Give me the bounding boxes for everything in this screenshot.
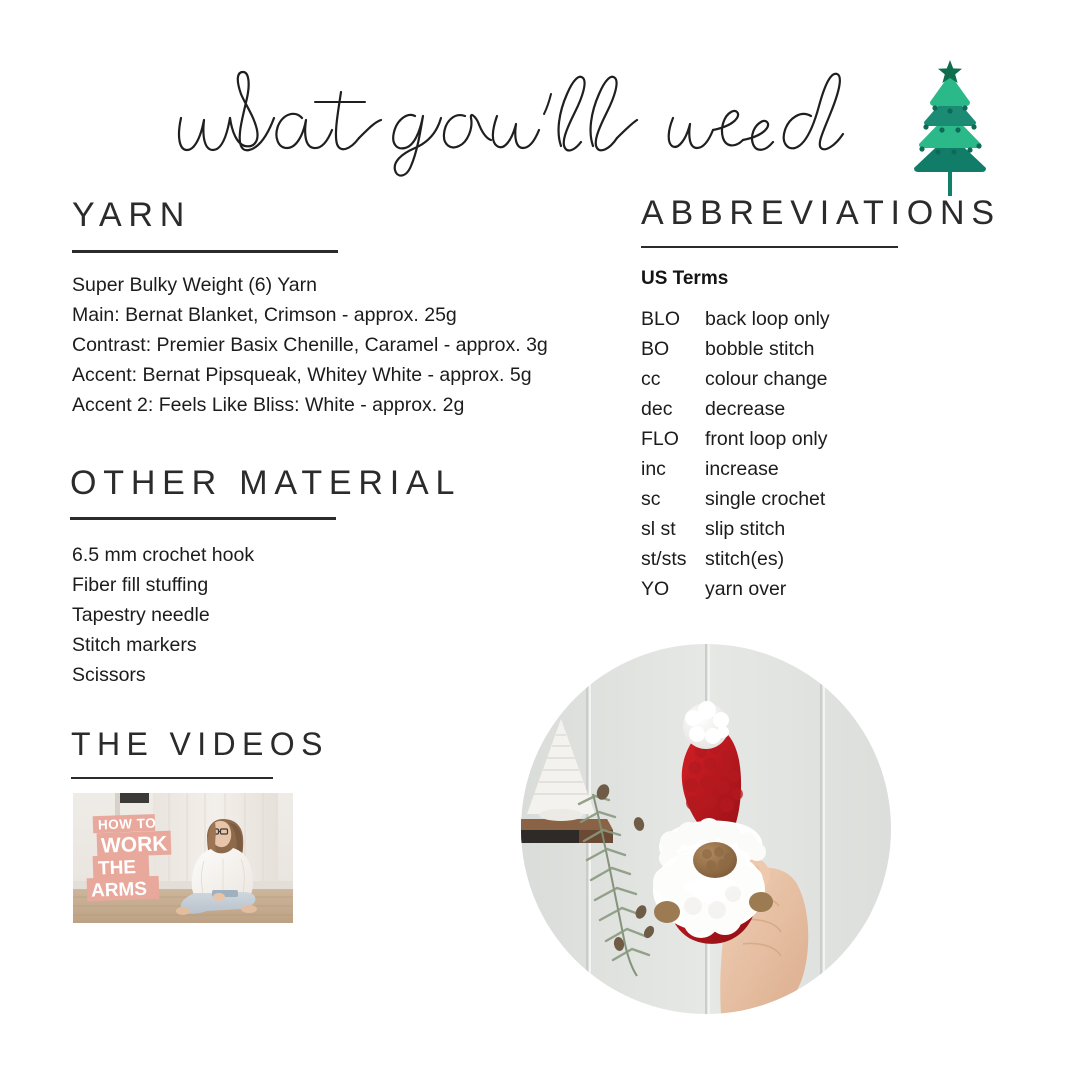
table-row: dec decrease <box>641 399 830 429</box>
list-item: Contrast: Premier Basix Chenille, Carame… <box>72 330 548 360</box>
list-item: Super Bulky Weight (6) Yarn <box>72 270 548 300</box>
other-material-section-divider <box>70 517 336 520</box>
abbreviation-meaning: yarn over <box>705 579 830 609</box>
video-thumbnail-how-to-work-the-arms[interactable]: HOW TO WORK THE ARMS <box>73 793 293 923</box>
list-item: 6.5 mm crochet hook <box>72 540 254 570</box>
yarn-section-divider <box>72 250 338 253</box>
abbreviation-meaning: increase <box>705 459 830 489</box>
abbreviation-meaning: bobble stitch <box>705 339 830 369</box>
list-item: Tapestry needle <box>72 600 254 630</box>
list-item: Stitch markers <box>72 630 254 660</box>
table-row: cc colour change <box>641 369 830 399</box>
abbreviation-key: cc <box>641 369 705 399</box>
videos-section-divider <box>71 777 273 779</box>
abbreviation-meaning: front loop only <box>705 429 830 459</box>
abbreviations-table: BLO back loop only BO bobble stitch cc c… <box>641 309 830 609</box>
abbreviation-key: sl st <box>641 519 705 549</box>
videos-section-heading: THE VIDEOS <box>71 728 329 760</box>
table-row: YO yarn over <box>641 579 830 609</box>
abbreviation-key: sc <box>641 489 705 519</box>
santa-gnome-ornament-photo <box>521 644 891 1014</box>
yarn-item-list: Super Bulky Weight (6) Yarn Main: Bernat… <box>72 270 548 420</box>
table-row: inc increase <box>641 459 830 489</box>
abbreviation-key: BLO <box>641 309 705 339</box>
page-title <box>175 58 905 178</box>
svg-text:ARMS: ARMS <box>91 879 148 902</box>
abbreviation-meaning: single crochet <box>705 489 830 519</box>
svg-text:THE: THE <box>98 857 137 879</box>
abbreviation-key: YO <box>641 579 705 609</box>
abbreviation-meaning: back loop only <box>705 309 830 339</box>
table-row: BO bobble stitch <box>641 339 830 369</box>
abbreviation-meaning: colour change <box>705 369 830 399</box>
svg-text:WORK: WORK <box>101 832 168 857</box>
list-item: Accent: Bernat Pipsqueak, Whitey White -… <box>72 360 548 390</box>
abbreviation-key: dec <box>641 399 705 429</box>
list-item: Scissors <box>72 660 254 690</box>
list-item: Accent 2: Feels Like Bliss: White - appr… <box>72 390 548 420</box>
abbreviation-key: inc <box>641 459 705 489</box>
svg-text:HOW TO: HOW TO <box>98 816 157 833</box>
yarn-section-heading: YARN <box>72 198 191 232</box>
abbreviations-section-heading: ABBREVIATIONS <box>641 196 1001 230</box>
other-material-section-heading: OTHER MATERIAL <box>70 466 461 500</box>
abbreviations-section-divider <box>641 246 898 248</box>
list-item: Fiber fill stuffing <box>72 570 254 600</box>
abbreviation-key: BO <box>641 339 705 369</box>
other-material-item-list: 6.5 mm crochet hook Fiber fill stuffing … <box>72 540 254 690</box>
list-item: Main: Bernat Blanket, Crimson - approx. … <box>72 300 548 330</box>
table-row: sc single crochet <box>641 489 830 519</box>
table-row: FLO front loop only <box>641 429 830 459</box>
page-header <box>0 48 1080 188</box>
table-row: BLO back loop only <box>641 309 830 339</box>
table-row: sl st slip stitch <box>641 519 830 549</box>
abbreviation-meaning: stitch(es) <box>705 549 830 579</box>
us-terms-label: US Terms <box>641 268 728 291</box>
abbreviation-meaning: slip stitch <box>705 519 830 549</box>
abbreviation-key: st/sts <box>641 549 705 579</box>
christmas-tree-icon <box>898 56 1002 206</box>
abbreviation-meaning: decrease <box>705 399 830 429</box>
table-row: st/sts stitch(es) <box>641 549 830 579</box>
abbreviation-key: FLO <box>641 429 705 459</box>
